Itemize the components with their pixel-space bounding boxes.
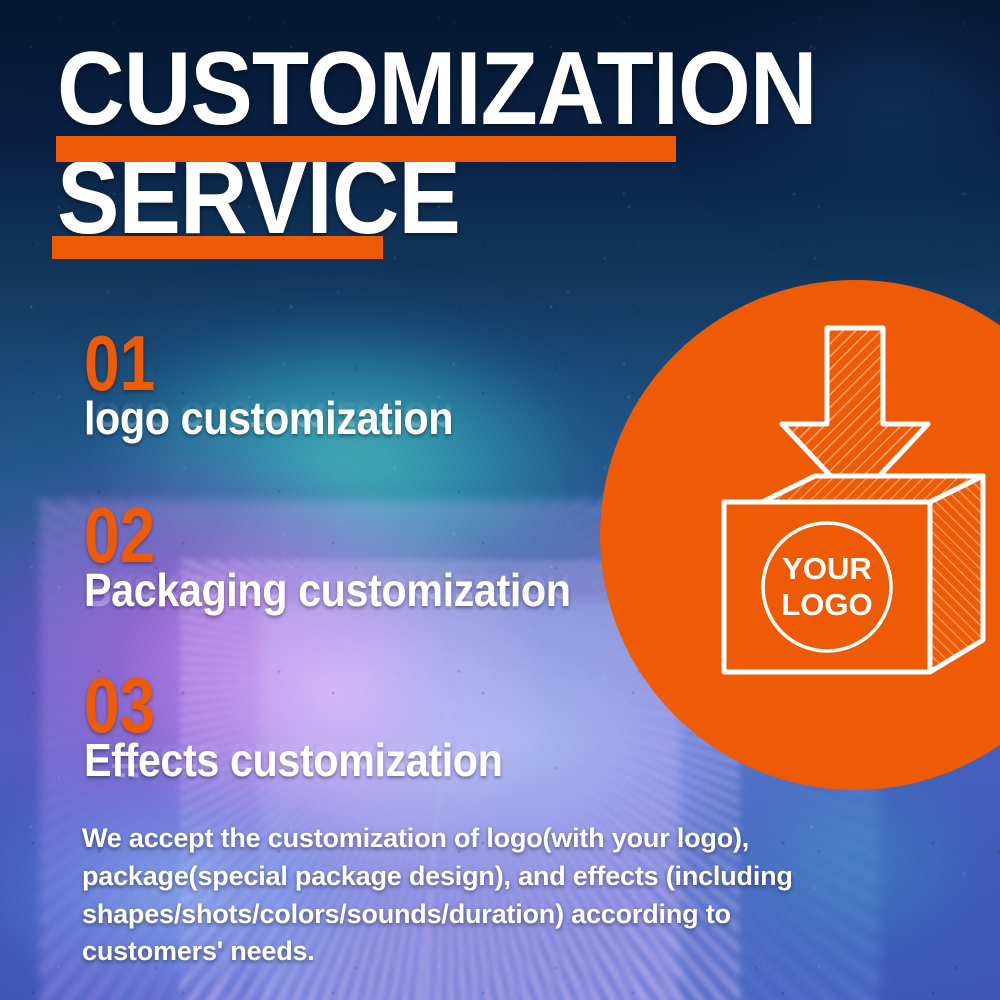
- service-item-02-label-wrap: Packaging customization Packaging custom…: [84, 567, 625, 613]
- title-underline-bar-2: [52, 236, 383, 259]
- your-logo-line2: LOGO: [781, 587, 872, 622]
- service-item-03-number: 03: [84, 672, 465, 739]
- service-item-01-label-wrap: logo customization logo customization: [84, 395, 494, 441]
- service-item-01: 01 logo customization logo customization: [84, 330, 494, 441]
- service-item-01-label: logo customization: [84, 395, 453, 441]
- box-right-face: [930, 476, 983, 672]
- service-item-02: 02 Packaging customization Packaging cus…: [84, 502, 625, 613]
- service-item-01-number: 01: [84, 330, 420, 397]
- your-logo-line1: YOUR: [782, 551, 872, 586]
- service-item-03: 03 Effects customization Effects customi…: [84, 672, 549, 783]
- customization-service-poster: CUSTOMIZATION SERVICE 01 logo customizat…: [0, 0, 1000, 1000]
- title-line-service: SERVICE: [57, 155, 687, 242]
- title-line-customization: CUSTOMIZATION: [57, 46, 687, 133]
- service-item-02-label: Packaging customization: [84, 567, 571, 613]
- service-item-03-label: Effects customization: [84, 737, 502, 783]
- service-item-03-label-wrap: Effects customization Effects customizat…: [84, 737, 549, 783]
- service-item-02-number: 02: [84, 502, 527, 569]
- custom-logo-box-illustration: YOUR LOGO: [600, 280, 1000, 790]
- description-paragraph: We accept the customization of logo(with…: [82, 820, 852, 971]
- title-underline-bar-1: [56, 136, 676, 162]
